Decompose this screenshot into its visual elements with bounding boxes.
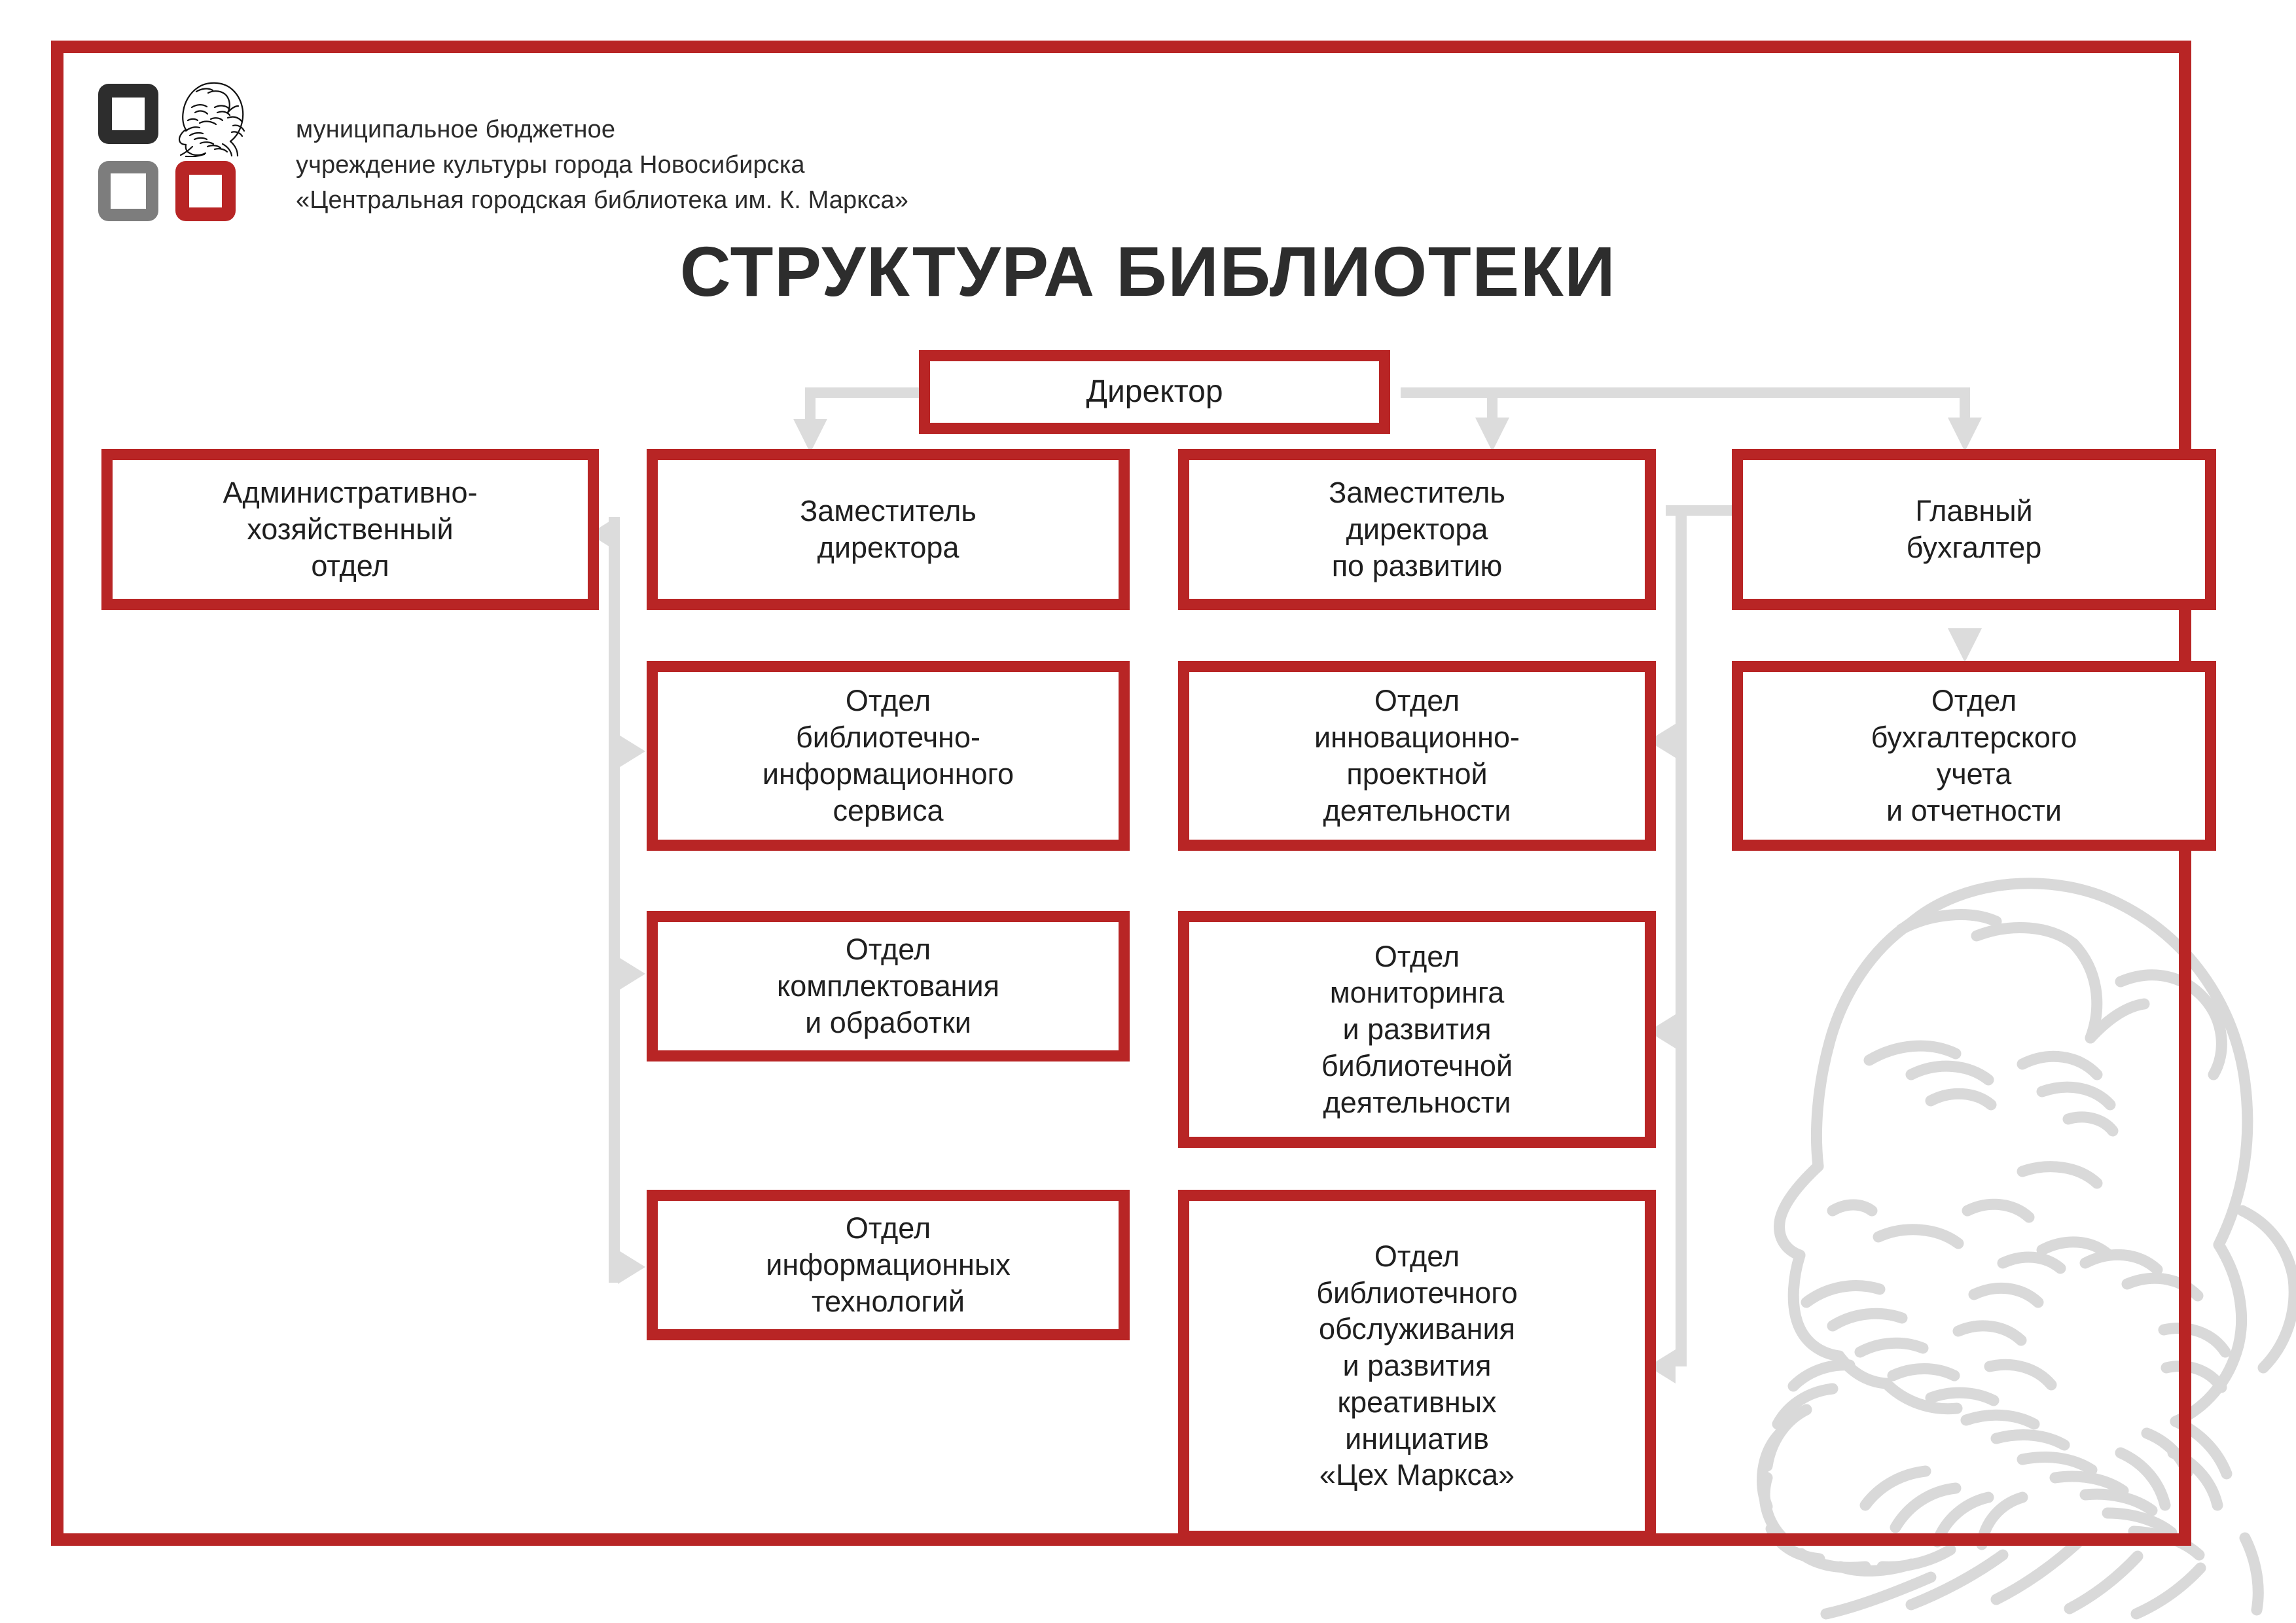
connector-director-to-deputy-dev-vertical [1487,387,1498,421]
node-library-information-service[interactable]: Отдел библиотечно- информационного серви… [647,661,1130,851]
logo-square-red [175,161,236,221]
connector-left-spine-top [609,517,620,530]
arrow-director-to-deputy [793,419,827,453]
org-name-line-3: «Центральная городская библиотека им. К.… [296,183,908,219]
logo-square-gray [98,161,158,221]
node-accounting-reporting-label: Отдел бухгалтерского учета и отчетности [1752,683,2196,829]
connector-director-to-chief-accountant-vertical [1960,387,1970,421]
poster-canvas: муниципальное бюджетное учреждение культ… [0,0,2296,1622]
node-chief-accountant-label: Главный бухгалтер [1752,493,2196,566]
connector-director-to-deputy-vertical [805,387,816,423]
org-name-line-2: учреждение культуры города Новосибирска [296,148,908,183]
node-innovation-project-activity-label: Отдел инновационно- проектной деятельнос… [1198,683,1636,829]
library-logo [98,84,262,247]
connector-right-spine [1676,505,1687,1366]
node-deputy-director-development-label: Заместитель директора по развитию [1198,474,1636,584]
node-deputy-director-development[interactable]: Заместитель директора по развитию [1178,449,1656,610]
node-creative-initiatives-workshop-label: Отдел библиотечного обслуживания и разви… [1198,1238,1636,1494]
connector-left-spine [609,527,620,1283]
connector-director-right-horizontal [1401,387,1970,398]
arrow-chief-accountant-to-accounting [1948,628,1982,662]
logo-square-dark [98,84,158,144]
arrow-deputy-to-acquisition [618,957,645,991]
node-deputy-director[interactable]: Заместитель директора [647,449,1130,610]
arrow-director-to-deputy-dev [1475,418,1509,452]
node-chief-accountant[interactable]: Главный бухгалтер [1732,449,2216,610]
arrow-director-to-chief-accountant [1948,418,1982,452]
node-information-technology-label: Отдел информационных технологий [667,1210,1109,1319]
organization-name: муниципальное бюджетное учреждение культ… [296,113,908,219]
arrow-deputy-to-it-dept [618,1250,645,1284]
karl-marx-portrait-icon [170,79,255,157]
node-acquisition-processing[interactable]: Отдел комплектования и обработки [647,911,1130,1061]
node-monitoring-library-development[interactable]: Отдел мониторинга и развития библиотечно… [1178,911,1656,1148]
node-acquisition-processing-label: Отдел комплектования и обработки [667,931,1109,1041]
node-accounting-reporting[interactable]: Отдел бухгалтерского учета и отчетности [1732,661,2216,851]
node-director-label: Директор [939,372,1370,412]
org-name-line-1: муниципальное бюджетное [296,113,908,148]
node-deputy-director-label: Заместитель директора [667,493,1109,566]
page-title: СТРУКТУРА БИБЛИОТЕКИ [0,230,2296,312]
arrow-deputy-to-lib-info [618,734,645,768]
node-creative-initiatives-workshop[interactable]: Отдел библиотечного обслуживания и разви… [1178,1190,1656,1542]
node-monitoring-library-development-label: Отдел мониторинга и развития библиотечно… [1198,938,1636,1121]
node-library-information-service-label: Отдел библиотечно- информационного серви… [667,683,1109,829]
node-innovation-project-activity[interactable]: Отдел инновационно- проектной деятельнос… [1178,661,1656,851]
node-administrative-department[interactable]: Административно- хозяйственный отдел [101,449,599,610]
node-administrative-department-label: Административно- хозяйственный отдел [122,474,579,584]
node-information-technology[interactable]: Отдел информационных технологий [647,1190,1130,1340]
node-director[interactable]: Директор [919,350,1390,434]
connector-director-to-deputy-horizontal [805,387,923,398]
